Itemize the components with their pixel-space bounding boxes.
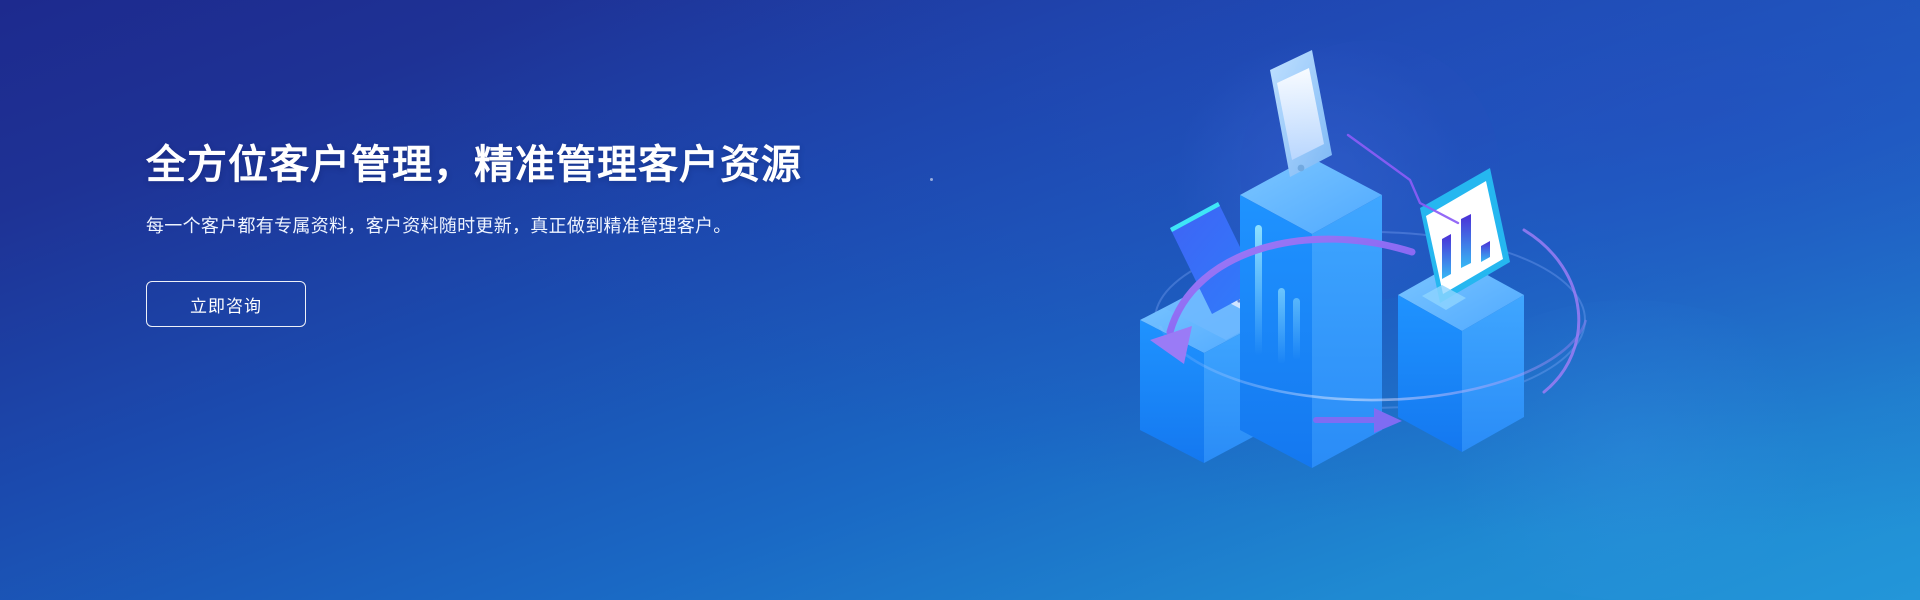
pillar-light-strip-2 — [1278, 288, 1285, 364]
monitor-bar-1 — [1442, 234, 1451, 279]
pillar-center-front — [1240, 195, 1312, 468]
background-sparkle — [930, 178, 933, 181]
monitor-bar-2 — [1461, 214, 1471, 268]
hero-banner: 全方位客户管理，精准管理客户资源 每一个客户都有专属资料，客户资料随时更新，真正… — [0, 0, 1920, 600]
page-title: 全方位客户管理，精准管理客户资源 — [146, 140, 846, 190]
hero-subtitle: 每一个客户都有专属资料，客户资料随时更新，真正做到精准管理客户。 — [146, 212, 734, 241]
pillar-light-strip-3 — [1293, 298, 1300, 360]
hero-illustration — [1120, 20, 1680, 580]
pillar-light-strip-1 — [1255, 225, 1262, 355]
tablet-home-button — [1298, 165, 1305, 172]
consult-now-button[interactable]: 立即咨询 — [146, 281, 306, 327]
hero-copy: 全方位客户管理，精准管理客户资源 每一个客户都有专属资料，客户资料随时更新，真正… — [146, 140, 846, 327]
